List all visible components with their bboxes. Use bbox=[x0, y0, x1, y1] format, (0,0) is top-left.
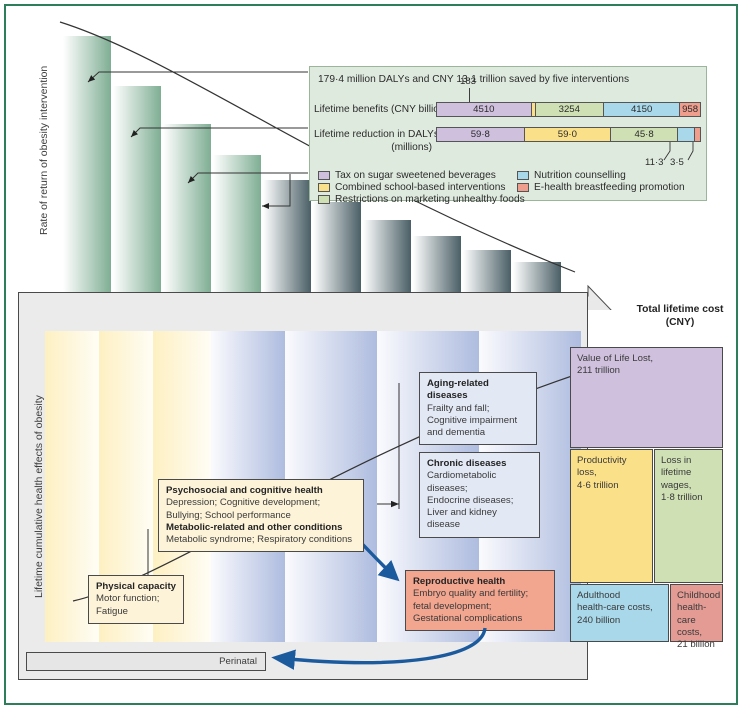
bar1-callout-tick bbox=[469, 88, 470, 103]
tm3-line2: 240 billion bbox=[577, 615, 620, 626]
box-chronic-line-2: Endocrine diseases; bbox=[427, 495, 513, 506]
box-reproductive-line-0: Embryo quality and fertility; bbox=[413, 588, 528, 599]
bar-1-segment-4: 958 bbox=[680, 103, 700, 116]
box-aging-related-diseases: Aging-related diseases Frailty and fall;… bbox=[419, 372, 537, 445]
bar-lifetime-dalys: 59·859·045·8 bbox=[436, 127, 701, 142]
legend-item-2: Restrictions on marketing unhealthy food… bbox=[318, 194, 525, 205]
tm2-line2: wages, bbox=[661, 480, 691, 491]
box-physical-capacity: Physical capacity Motor function; Fatigu… bbox=[88, 575, 184, 624]
treemap-title-line1: Total lifetime cost bbox=[637, 304, 724, 315]
treemap-title: Total lifetime cost (CNY) bbox=[605, 303, 742, 329]
legend-label-3: Nutrition counselling bbox=[534, 170, 626, 181]
box-aging-title: Aging-related diseases bbox=[427, 378, 489, 401]
legend-swatch-icon-2 bbox=[318, 195, 330, 204]
box-aging-line-0: Frailty and fall; bbox=[427, 403, 489, 414]
tm1-line1: loss, bbox=[577, 467, 597, 478]
box-physical-capacity-line-1: Fatigue bbox=[96, 606, 128, 617]
treemap-cell-childhood-health-care-costs: Childhood health-care costs, 21 billion bbox=[670, 584, 723, 642]
bar2-callout-3-5: 3·5 bbox=[670, 157, 684, 168]
legend-label-0: Tax on sugar sweetened beverages bbox=[335, 170, 496, 181]
box-aging-line-1: Cognitive impairment bbox=[427, 415, 517, 426]
legend-swatch-icon-1 bbox=[318, 183, 330, 192]
legend-item-0: Tax on sugar sweetened beverages bbox=[318, 170, 496, 181]
bar-1-segment-2: 3254 bbox=[536, 103, 604, 116]
bar-lifetime-benefits: 451032544150958 bbox=[436, 102, 701, 117]
tm4-line2: costs, bbox=[677, 627, 702, 638]
box-chronic-diseases: Chronic diseases Cardiometabolic disease… bbox=[419, 452, 540, 538]
bottom-perinatal-label: Perinatal bbox=[26, 652, 266, 671]
bar-2-segment-0: 59·8 bbox=[437, 128, 525, 141]
lower-y-axis-label: Lifetime cumulative health effects of ob… bbox=[33, 395, 45, 598]
box-psychosocial-line-1: Bullying; School performance bbox=[166, 510, 291, 521]
box-psychosocial-line-0: Depression; Cognitive development; bbox=[166, 497, 320, 508]
bar1-callout-183: 183 bbox=[460, 76, 476, 87]
legend-item-1: Combined school-based interventions bbox=[318, 182, 505, 193]
legend-item-4: E-health breastfeeding promotion bbox=[517, 182, 685, 193]
bar-2-segment-3 bbox=[678, 128, 695, 141]
tm4-line1: health-care bbox=[677, 602, 706, 625]
feedback-loop-arrow bbox=[250, 620, 500, 690]
box-metabolic-title: Metabolic-related and other conditions bbox=[166, 522, 342, 533]
legend-swatch-icon-3 bbox=[517, 171, 529, 180]
tm0-line1: 211 trillion bbox=[577, 365, 620, 376]
treemap-cell-adulthood-health-care-costs: Adulthood health-care costs, 240 billion bbox=[570, 584, 669, 642]
tm1-line2: 4·6 trillion bbox=[577, 480, 619, 491]
legend-label-4: E-health breastfeeding promotion bbox=[534, 182, 685, 193]
bar2-callout-11-3: 11·3 bbox=[645, 157, 664, 168]
legend-swatch-icon-0 bbox=[318, 171, 330, 180]
box-reproductive-title: Reproductive health bbox=[413, 576, 505, 587]
tm4-line0: Childhood bbox=[677, 590, 720, 601]
treemap-cell-productivity-loss: Productivity loss, 4·6 trillion bbox=[570, 449, 653, 583]
bar-2-segment-1: 59·0 bbox=[525, 128, 612, 141]
tm2-line3: 1·8 trillion bbox=[661, 492, 703, 503]
tm1-line0: Productivity bbox=[577, 455, 627, 466]
box-aging-line-2: and dementia bbox=[427, 427, 485, 438]
box-physical-capacity-title: Physical capacity bbox=[96, 581, 176, 592]
box-chronic-title: Chronic diseases bbox=[427, 458, 506, 469]
top-y-axis-label: Rate of return of obesity intervention bbox=[38, 66, 50, 235]
legend-item-3: Nutrition counselling bbox=[517, 170, 626, 181]
box-metabolic-line-0: Metabolic syndrome; Respiratory conditio… bbox=[166, 534, 352, 545]
bar-2-segment-2: 45·8 bbox=[611, 128, 678, 141]
bar2-label-line1: Lifetime reduction in DALYs bbox=[314, 129, 432, 140]
bar-1-segment-0: 4510 bbox=[437, 103, 532, 116]
box-physical-capacity-line-0: Motor function; bbox=[96, 593, 159, 604]
legend-swatch-icon-4 bbox=[517, 183, 529, 192]
tm2-line1: lifetime bbox=[661, 467, 691, 478]
bar-2-segment-4 bbox=[695, 128, 700, 141]
tm0-line0: Value of Life Lost, bbox=[577, 353, 653, 364]
bar1-label: Lifetime benefits (CNY billions) bbox=[314, 104, 432, 115]
box-chronic-line-3: Liver and kidney disease bbox=[427, 507, 497, 530]
box-reproductive-line-1: fetal development; bbox=[413, 601, 491, 612]
legend-label-1: Combined school-based interventions bbox=[335, 182, 505, 193]
treemap-title-line2: (CNY) bbox=[666, 317, 695, 328]
box-psychosocial-title: Psychosocial and cognitive health bbox=[166, 485, 323, 496]
tm3-line1: health-care costs, bbox=[577, 602, 653, 613]
legend-label-2: Restrictions on marketing unhealthy food… bbox=[335, 194, 525, 205]
treemap-cell-loss-in-lifetime-wages: Loss in lifetime wages, 1·8 trillion bbox=[654, 449, 723, 583]
tm4-line3: 21 billion bbox=[677, 639, 715, 650]
treemap-cell-value-of-life-lost: Value of Life Lost, 211 trillion bbox=[570, 347, 723, 448]
bar-1-segment-3: 4150 bbox=[604, 103, 680, 116]
figure-root: Rate of return of obesity intervention P… bbox=[0, 0, 742, 709]
bar2-label-line2: (millions) bbox=[314, 142, 432, 153]
tm2-line0: Loss in bbox=[661, 455, 691, 466]
tm3-line0: Adulthood bbox=[577, 590, 620, 601]
box-chronic-line-0: Cardiometabolic bbox=[427, 470, 496, 481]
box-chronic-line-1: diseases; bbox=[427, 483, 468, 494]
box-psychosocial-cognitive: Psychosocial and cognitive health Depres… bbox=[158, 479, 364, 552]
interventions-summary-box: 179·4 million DALYs and CNY 13·1 trillio… bbox=[309, 66, 707, 201]
